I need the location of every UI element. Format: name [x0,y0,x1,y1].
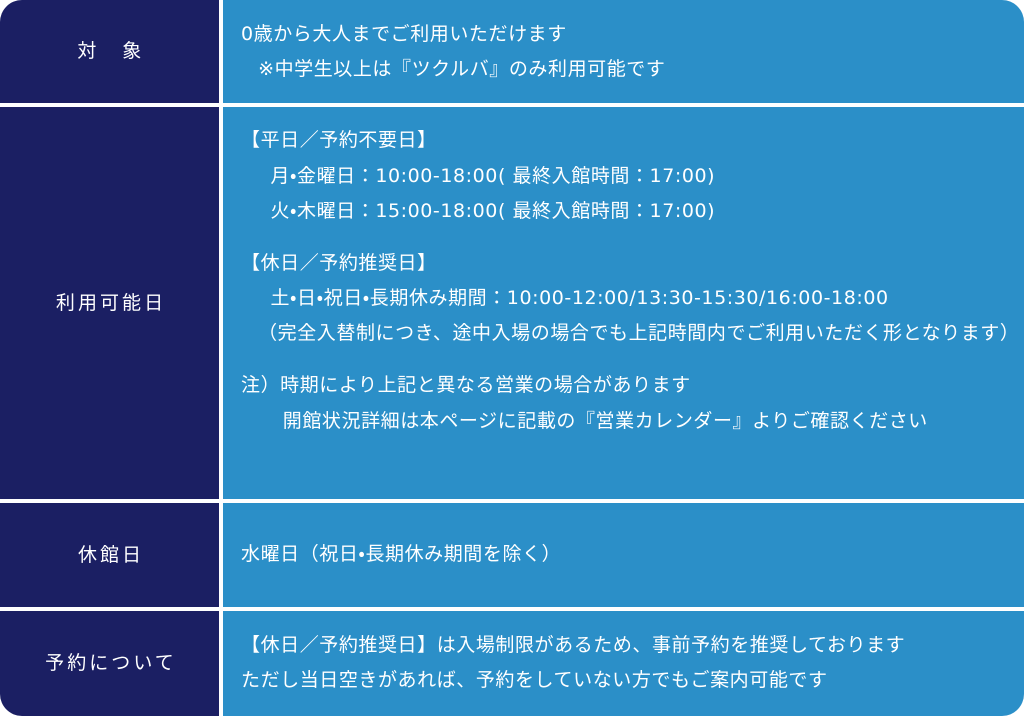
table-row-reservation: 予約について 【休日／予約推奨日】は入場制限があるため、事前予約を推奨しておりま… [0,611,1024,716]
closed-days-text: 水曜日（祝日・長期休み期間を除く） [241,537,1014,572]
row-label-available-days: 利用可能日 [0,107,219,499]
table-row-target: 対 象 0歳から大人までご利用いただけます ※中学生以上は『ツクルバ』のみ利用可… [0,0,1024,103]
block-spacer [241,229,1019,246]
row-value-available-days: 【平日／予約不要日】 月・金曜日：10:00-18:00( 最終入館時間：17:… [223,107,1024,499]
seasonal-note: 注）時期により上記と異なる営業の場合があります [241,368,1019,403]
weekday-heading: 【平日／予約不要日】 [241,123,1019,158]
target-line-age-range: 0歳から大人までご利用いただけます [241,17,1014,52]
usage-information-table: 対 象 0歳から大人までご利用いただけます ※中学生以上は『ツクルバ』のみ利用可… [0,0,1024,716]
row-value-reservation: 【休日／予約推奨日】は入場制限があるため、事前予約を推奨しております ただし当日… [223,611,1024,716]
weekday-tue-thu-hours: 火・木曜日：15:00-18:00( 最終入館時間：17:00) [241,194,1019,229]
reservation-walkin-text: ただし当日空きがあれば、予約をしていない方でもご案内可能です [241,663,1014,698]
reservation-recommended-text: 【休日／予約推奨日】は入場制限があるため、事前予約を推奨しております [241,628,1014,663]
table-row-closed-days: 休館日 水曜日（祝日・長期休み期間を除く） [0,503,1024,606]
block-spacer [241,351,1019,368]
row-label-target: 対 象 [0,0,219,103]
holiday-hours: 土・日・祝日・長期休み期間：10:00-12:00/13:30-15:30/16… [241,281,1019,316]
row-value-target: 0歳から大人までご利用いただけます ※中学生以上は『ツクルバ』のみ利用可能です [223,0,1024,103]
row-label-reservation: 予約について [0,611,219,716]
calendar-reference-note: 開館状況詳細は本ページに記載の『営業カレンダー』よりご確認ください [241,404,1019,439]
target-line-note: ※中学生以上は『ツクルバ』のみ利用可能です [241,52,1014,87]
row-label-closed-days: 休館日 [0,503,219,606]
weekday-mon-fri-hours: 月・金曜日：10:00-18:00( 最終入館時間：17:00) [241,159,1019,194]
holiday-replacement-note: （完全入替制につき、途中入場の場合でも上記時間内でご利用いただく形となります） [241,316,1019,351]
holiday-heading: 【休日／予約推奨日】 [241,246,1019,281]
row-value-closed-days: 水曜日（祝日・長期休み期間を除く） [223,503,1024,606]
table-row-available-days: 利用可能日 【平日／予約不要日】 月・金曜日：10:00-18:00( 最終入館… [0,107,1024,499]
